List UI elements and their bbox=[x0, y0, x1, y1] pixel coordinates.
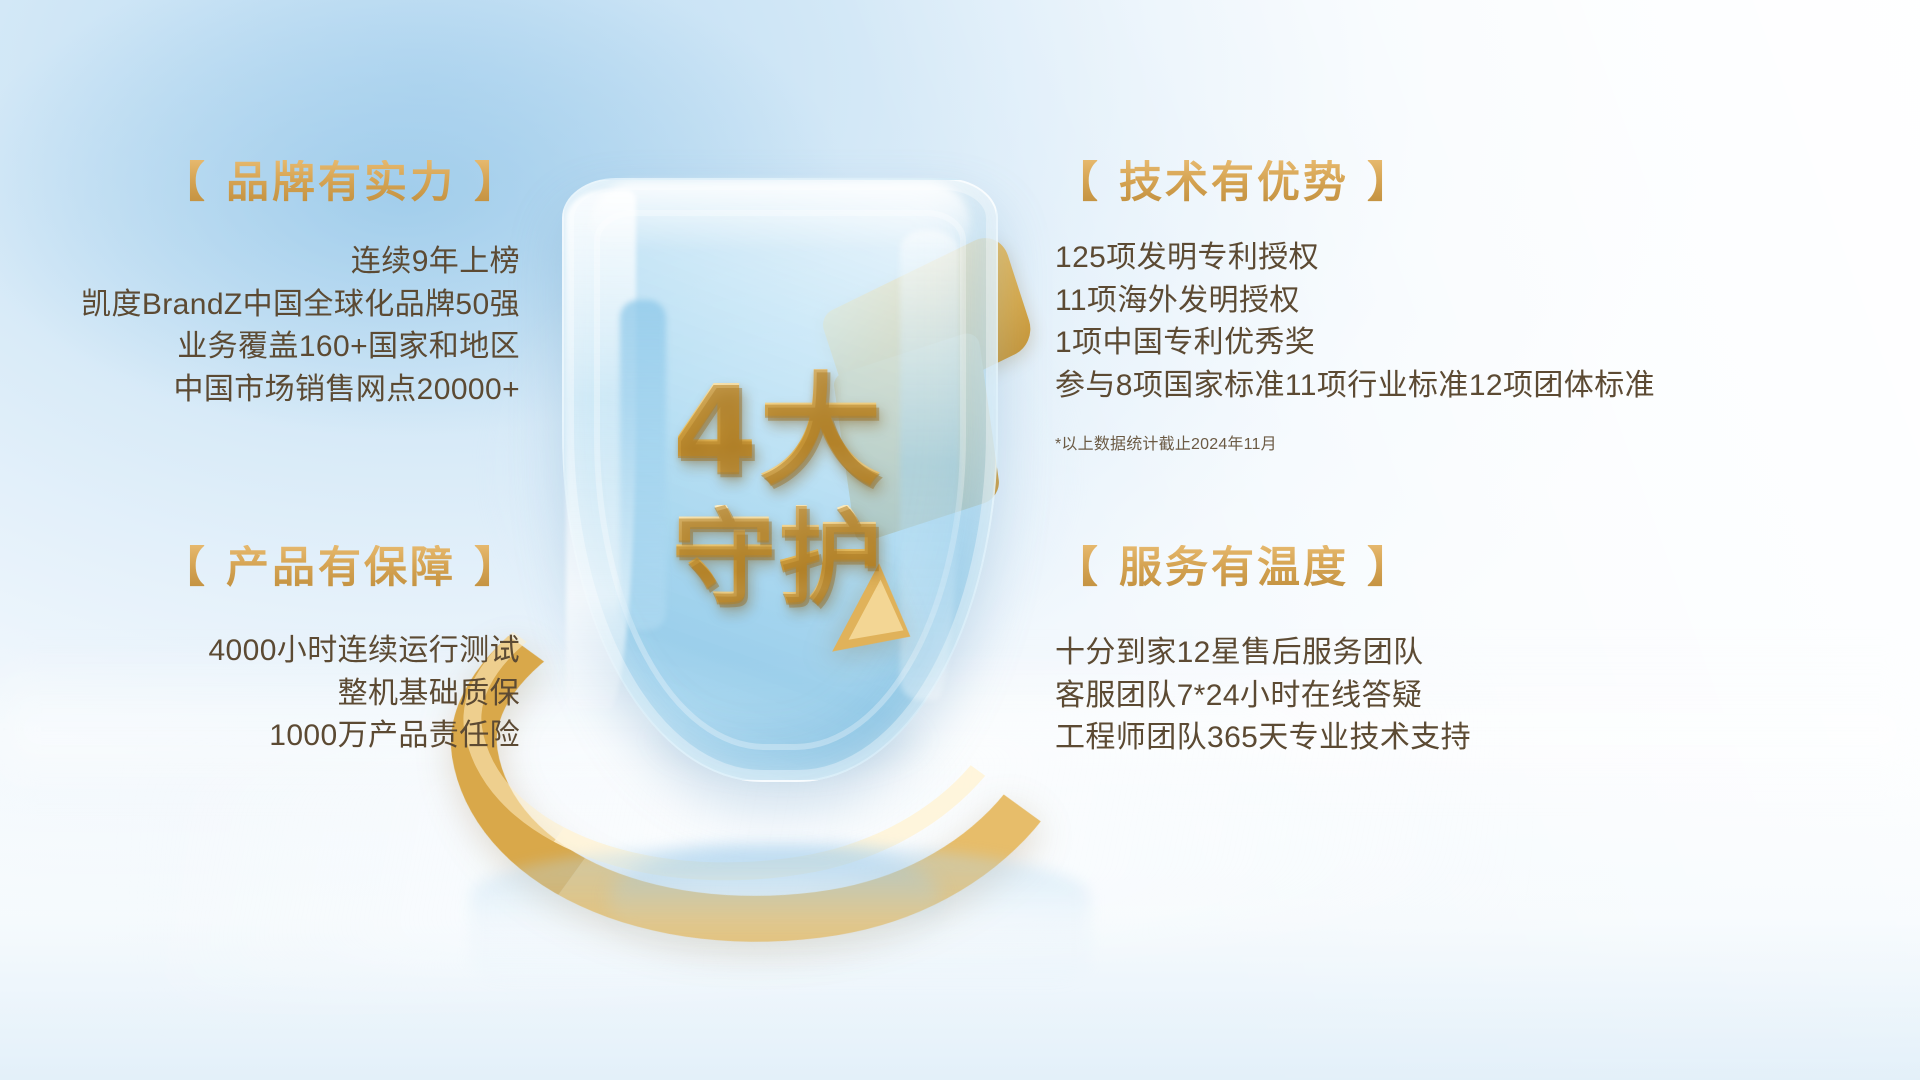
feature-line: 4000小时连续运行测试 bbox=[60, 630, 520, 673]
feature-block-product: 【 产品有保障 】 4000小时连续运行测试 整机基础质保 1000万产品责任险 bbox=[60, 545, 520, 758]
feature-heading-brand: 【 品牌有实力 】 bbox=[60, 160, 520, 207]
feature-line: 参与8项国家标准11项行业标准12项团体标准 bbox=[1055, 365, 1575, 408]
feature-block-service: 【 服务有温度 】 十分到家12星售后服务团队 客服团队7*24小时在线答疑 工… bbox=[1055, 545, 1575, 760]
shield-graphic: 4大 守护 bbox=[470, 120, 1090, 880]
feature-line: 业务覆盖160+国家和地区 bbox=[60, 326, 520, 369]
feature-block-technology: 【 技术有优势 】 125项发明专利授权 11项海外发明授权 1项中国专利优秀奖… bbox=[1055, 160, 1575, 454]
headline-line-1: 4大 bbox=[673, 369, 884, 491]
feature-list-technology: 125项发明专利授权 11项海外发明授权 1项中国专利优秀奖 参与8项国家标准1… bbox=[1055, 237, 1575, 407]
feature-line: 1000万产品责任险 bbox=[60, 715, 520, 758]
feature-line: 十分到家12星售后服务团队 bbox=[1055, 632, 1575, 675]
feature-heading-service: 【 服务有温度 】 bbox=[1055, 545, 1575, 592]
shield-headline: 4大 守护 bbox=[562, 178, 994, 778]
feature-line: 客服团队7*24小时在线答疑 bbox=[1055, 675, 1575, 718]
feature-heading-product: 【 产品有保障 】 bbox=[60, 545, 520, 592]
feature-footnote-technology: *以上数据统计截止2024年11月 bbox=[1055, 430, 1575, 454]
feature-list-service: 十分到家12星售后服务团队 客服团队7*24小时在线答疑 工程师团队365天专业… bbox=[1055, 632, 1575, 760]
poster-canvas: 4大 守护 【 品牌有实力 】 连续9年上榜 凯度BrandZ中国全球化品牌50… bbox=[0, 0, 1920, 1080]
feature-line: 中国市场销售网点20000+ bbox=[60, 369, 520, 412]
feature-list-brand: 连续9年上榜 凯度BrandZ中国全球化品牌50强 业务覆盖160+国家和地区 … bbox=[60, 241, 520, 411]
feature-heading-technology: 【 技术有优势 】 bbox=[1055, 160, 1575, 207]
headline-line-2: 守护 bbox=[672, 505, 884, 609]
feature-block-brand: 【 品牌有实力 】 连续9年上榜 凯度BrandZ中国全球化品牌50强 业务覆盖… bbox=[60, 160, 520, 412]
shield-reflection-core bbox=[610, 848, 940, 968]
feature-line: 连续9年上榜 bbox=[60, 241, 520, 284]
feature-line: 整机基础质保 bbox=[60, 673, 520, 716]
feature-line: 凯度BrandZ中国全球化品牌50强 bbox=[60, 284, 520, 327]
feature-line: 11项海外发明授权 bbox=[1055, 280, 1575, 323]
feature-line: 125项发明专利授权 bbox=[1055, 237, 1575, 280]
feature-line: 1项中国专利优秀奖 bbox=[1055, 322, 1575, 365]
feature-list-product: 4000小时连续运行测试 整机基础质保 1000万产品责任险 bbox=[60, 630, 520, 758]
feature-line: 工程师团队365天专业技术支持 bbox=[1055, 717, 1575, 760]
